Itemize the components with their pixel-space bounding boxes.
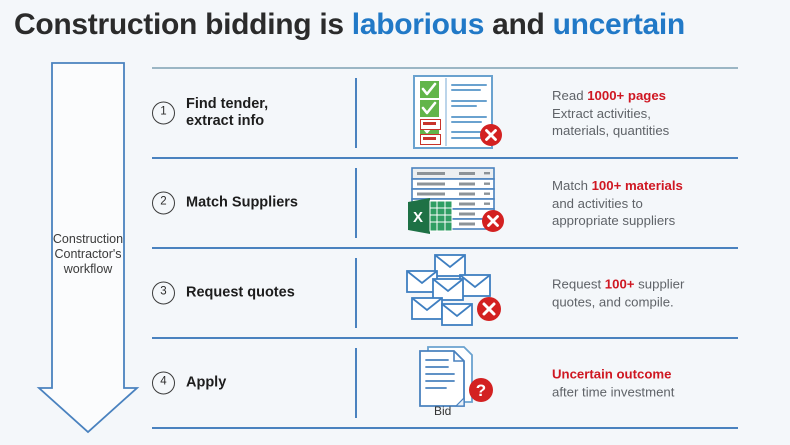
checklist-document-icon	[402, 68, 532, 158]
step-number-1: 1	[152, 102, 175, 125]
desc-lead-3: Request	[552, 277, 605, 292]
desc-lead-2: Match	[552, 178, 592, 193]
column-separator-3	[355, 258, 357, 328]
step-description-2: Match 100+ materials and activities to a…	[552, 177, 742, 230]
envelope-icon	[412, 298, 442, 319]
desc-highlight-2: 100+ materials	[592, 178, 683, 193]
step-description-1: Read 1000+ pages Extract activities, mat…	[552, 87, 742, 140]
envelopes-cluster-icon	[402, 248, 532, 338]
checklist-red-dash-2	[420, 134, 441, 145]
excel-badge-icon: X	[408, 198, 452, 234]
title-part-1: Construction bidding is	[14, 8, 352, 41]
desc-lead-1: Read	[552, 88, 587, 103]
error-x-badge	[477, 297, 501, 321]
envelope-icon	[460, 275, 490, 296]
step-number-4: 4	[152, 372, 175, 395]
step-label-3: Request quotes	[186, 285, 295, 302]
desc-rest-4: after time investment	[552, 384, 674, 399]
column-separator-2	[355, 168, 357, 238]
workflow-step-row-1: 1 Find tender, extract info	[152, 68, 738, 158]
title-highlight-laborious: laborious	[352, 8, 484, 41]
workflow-step-row-2: 2 Match Suppliers	[152, 158, 738, 248]
workflow-step-row-3: 3 Request quotes	[152, 248, 738, 338]
spreadsheet-excel-icon: X	[402, 158, 532, 248]
step-label-1: Find tender, extract info	[186, 96, 268, 130]
checklist-red-dash-1	[420, 119, 441, 130]
envelope-icon	[442, 304, 472, 325]
svg-text:?: ?	[476, 381, 486, 400]
desc-rest-2: and activities to appropriate suppliers	[552, 195, 675, 228]
desc-rest-1: Extract activities, materials, quantitie…	[552, 105, 669, 138]
step-description-4: Uncertain outcome after time investment	[552, 366, 742, 401]
bid-icon-caption: Bid	[434, 404, 451, 418]
bid-documents-icon: ? Bid	[402, 338, 532, 428]
page-title: Construction bidding is laborious and un…	[14, 8, 685, 42]
slide-canvas: Construction bidding is laborious and un…	[0, 0, 790, 445]
step-label-2: Match Suppliers	[186, 195, 298, 212]
column-separator-4	[355, 348, 357, 418]
envelope-icon	[433, 279, 463, 300]
desc-highlight-4: Uncertain outcome	[552, 367, 671, 382]
workflow-step-row-4: 4 Apply	[152, 338, 738, 428]
error-x-badge	[482, 210, 504, 232]
desc-highlight-3: 100+	[605, 277, 635, 292]
title-part-2: and	[484, 8, 553, 41]
step-label-4: Apply	[186, 375, 226, 392]
question-mark-badge: ?	[469, 378, 493, 402]
envelope-icon	[435, 255, 465, 276]
svg-text:X: X	[413, 209, 423, 226]
step-number-2: 2	[152, 192, 175, 215]
step-number-3: 3	[152, 282, 175, 305]
column-separator-1	[355, 78, 357, 148]
step-description-3: Request 100+ supplier quotes, and compil…	[552, 276, 742, 311]
desc-highlight-1: 1000+ pages	[587, 88, 666, 103]
workflow-arrow-label: Construction Contractor's workflow	[36, 232, 140, 277]
title-highlight-uncertain: uncertain	[553, 8, 685, 41]
